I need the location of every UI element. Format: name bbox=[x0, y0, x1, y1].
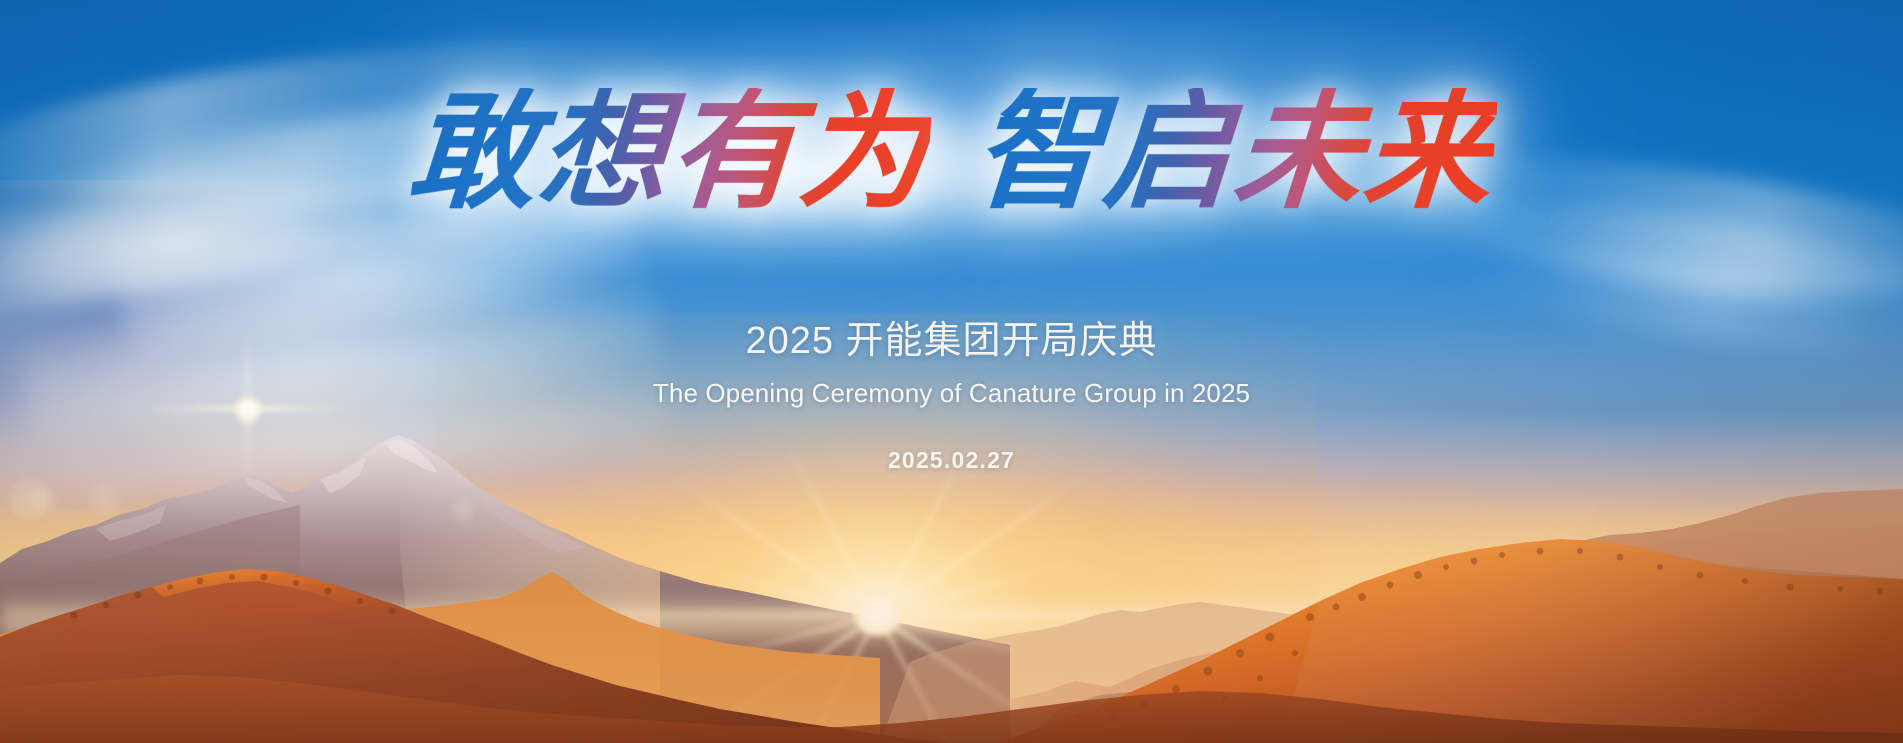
subtitle-english: The Opening Ceremony of Canature Group i… bbox=[0, 377, 1903, 410]
headline-phrase-2: 智启未来 bbox=[969, 88, 1498, 216]
headline-calligraphy: 敢想有为智启未来 bbox=[0, 88, 1903, 216]
event-banner: 敢想有为智启未来 2025 开能集团开局庆典 The Opening Cerem… bbox=[0, 0, 1903, 743]
lens-flare-orb-icon bbox=[28, 486, 58, 516]
lens-flare-orb-icon bbox=[450, 498, 476, 524]
event-date: 2025.02.27 bbox=[0, 447, 1903, 474]
subtitle-chinese: 2025 开能集团开局庆典 bbox=[0, 318, 1903, 366]
headline-phrase-1: 敢想有为 bbox=[405, 88, 934, 216]
foreground-ridge bbox=[0, 613, 1903, 743]
subtitle-block: 2025 开能集团开局庆典 The Opening Ceremony of Ca… bbox=[0, 318, 1903, 474]
lens-flare-icon bbox=[233, 395, 263, 425]
lens-flare-orb-icon bbox=[88, 482, 122, 516]
